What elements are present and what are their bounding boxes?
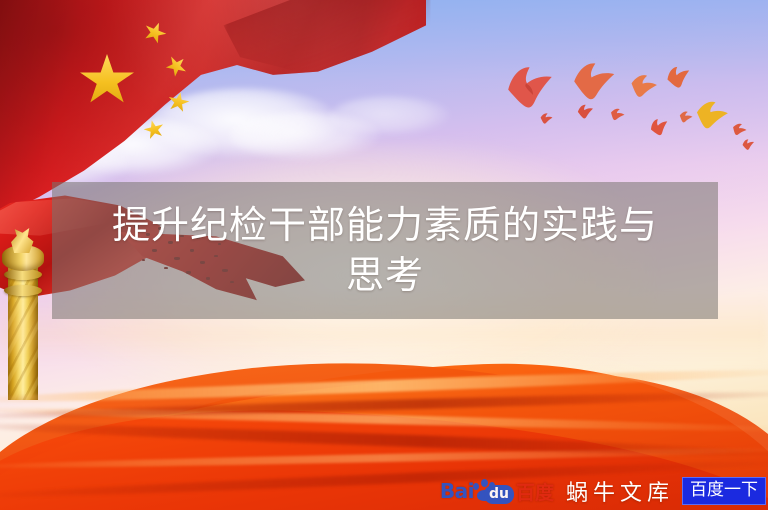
bird-icon <box>565 55 622 106</box>
poster-image: 提升纪检干部能力素质的实践与 思考 Bai du 百度 蜗牛文库 百度一下 <box>0 0 768 510</box>
site-brand-name: 蜗牛文库 <box>566 475 674 507</box>
watermark-bar: Bai du 百度 蜗牛文库 百度一下 <box>440 474 768 508</box>
baidu-logo-bai: Bai <box>440 479 474 503</box>
baidu-logo-chinese: 百度 <box>516 478 554 505</box>
bird-icon <box>574 102 596 122</box>
baidu-search-button[interactable]: 百度一下 <box>682 477 766 505</box>
bird-icon <box>676 109 695 126</box>
bird-icon <box>688 96 733 134</box>
baidu-logo-du: du <box>484 485 514 504</box>
bird-icon <box>538 111 555 125</box>
bird-icon <box>624 70 662 102</box>
title-line-1: 提升纪检干部能力素质的实践与 <box>112 201 658 250</box>
title-line-2: 思考 <box>346 251 424 300</box>
baidu-logo[interactable]: Bai du 百度 <box>440 478 554 504</box>
bird-icon <box>739 137 757 153</box>
title-overlay-panel: 提升纪检干部能力素质的实践与 思考 <box>52 182 718 319</box>
